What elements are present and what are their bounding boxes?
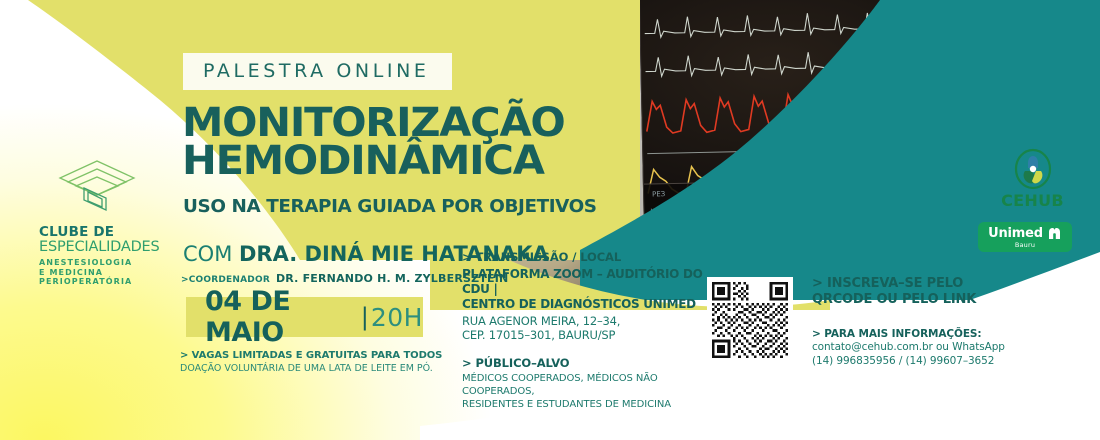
palestra-online-label: PALESTRA ONLINE <box>203 60 430 82</box>
transmission-heading: > TRANSMISSÃO / LOCAL <box>462 250 712 264</box>
page-title: MONITORIZAÇÃO HEMODINÂMICA <box>182 104 565 180</box>
notes-line-2: DOAÇÃO VOLUNTÁRIA DE UMA LATA DE LEITE E… <box>180 363 442 374</box>
qr-code[interactable] <box>707 277 793 363</box>
signup-column: > INSCREVA–SE PELO QRCODE OU PELO LINK >… <box>812 276 1062 368</box>
date-time: 20H <box>371 303 423 332</box>
club-logo-line-3: ANESTESIOLOGIA <box>39 258 157 268</box>
contact-heading: > PARA MAIS INFORMAÇÕES: <box>812 328 1062 340</box>
club-logo-line-2: ESPECIALIDADES <box>37 240 157 255</box>
contact-phones: (14) 996835956 / (14) 99607–3652 <box>812 354 1062 368</box>
unimed-wordmark: Unimed <box>988 226 1043 241</box>
audience-heading: > PÚBLICO–ALVO <box>462 356 712 370</box>
contact-email: contato@cehub.com.br ou WhatsApp <box>812 340 1062 354</box>
cehub-logo: CEHUB <box>985 148 1080 210</box>
title-line-1: MONITORIZAÇÃO <box>182 104 565 142</box>
qr-code-icon[interactable] <box>712 282 788 358</box>
title-line-2: HEMODINÂMICA <box>182 142 565 180</box>
palestra-online-badge: PALESTRA ONLINE <box>183 53 452 90</box>
notes-line-1: > VAGAS LIMITADAS E GRATUITAS PARA TODOS <box>180 350 442 361</box>
signup-heading-line-2: QRCODE OU PELO LINK <box>812 292 1062 308</box>
cehub-wordmark: CEHUB <box>985 191 1080 210</box>
transmission-column: > TRANSMISSÃO / LOCAL PLATAFORMA ZOOM – … <box>462 250 712 411</box>
notes-block: > VAGAS LIMITADAS E GRATUITAS PARA TODOS… <box>180 350 442 374</box>
date-day: 04 DE MAIO <box>205 286 357 348</box>
unimed-logo: Unimed Bauru <box>978 222 1072 252</box>
audience-line-1: MÉDICOS COOPERADOS, MÉDICOS NÃO COOPERAD… <box>462 372 712 398</box>
audience-line-2: RESIDENTES E ESTUDANTES DE MEDICINA <box>462 398 712 411</box>
cehub-trefoil-icon <box>1012 148 1054 190</box>
date-separator: | <box>361 303 369 331</box>
event-banner: ARR ПУЛЬМ АД <box>0 0 1100 440</box>
layered-diamond-icon <box>54 158 140 216</box>
unimed-sublabel: Bauru <box>1015 241 1035 249</box>
coordinator-line: >COORDENADORDR. FERNANDO H. M. ZYLBERSZT… <box>181 272 508 285</box>
unimed-hand-icon <box>1047 227 1062 240</box>
speaker-prefix: COM <box>183 242 239 266</box>
club-logo-line-4: E MEDICINA <box>39 268 157 278</box>
page-subtitle: USO NA TERAPIA GUIADA POR OBJETIVOS <box>183 196 597 217</box>
clube-especialidades-logo: CLUBE DE ESPECIALIDADES ANESTESIOLOGIA E… <box>37 158 157 287</box>
transmission-line-1: PLATAFORMA ZOOM – AUDITÓRIO DO CDU | <box>462 267 712 297</box>
coordinator-label: >COORDENADOR <box>181 275 270 285</box>
date-badge: 04 DE MAIO | 20H <box>186 297 423 337</box>
transmission-line-3: RUA AGENOR MEIRA, 12–34, <box>462 314 712 328</box>
transmission-line-2: CENTRO DE DIAGNÓSTICOS UNIMED <box>462 297 712 312</box>
club-logo-line-1: CLUBE DE <box>37 224 157 240</box>
transmission-line-4: CEP. 17015–301, BAURU/SP <box>462 328 712 342</box>
signup-heading-line-1: > INSCREVA–SE PELO <box>812 276 1062 292</box>
club-logo-line-5: PERIOPERATÓRIA <box>39 277 157 287</box>
